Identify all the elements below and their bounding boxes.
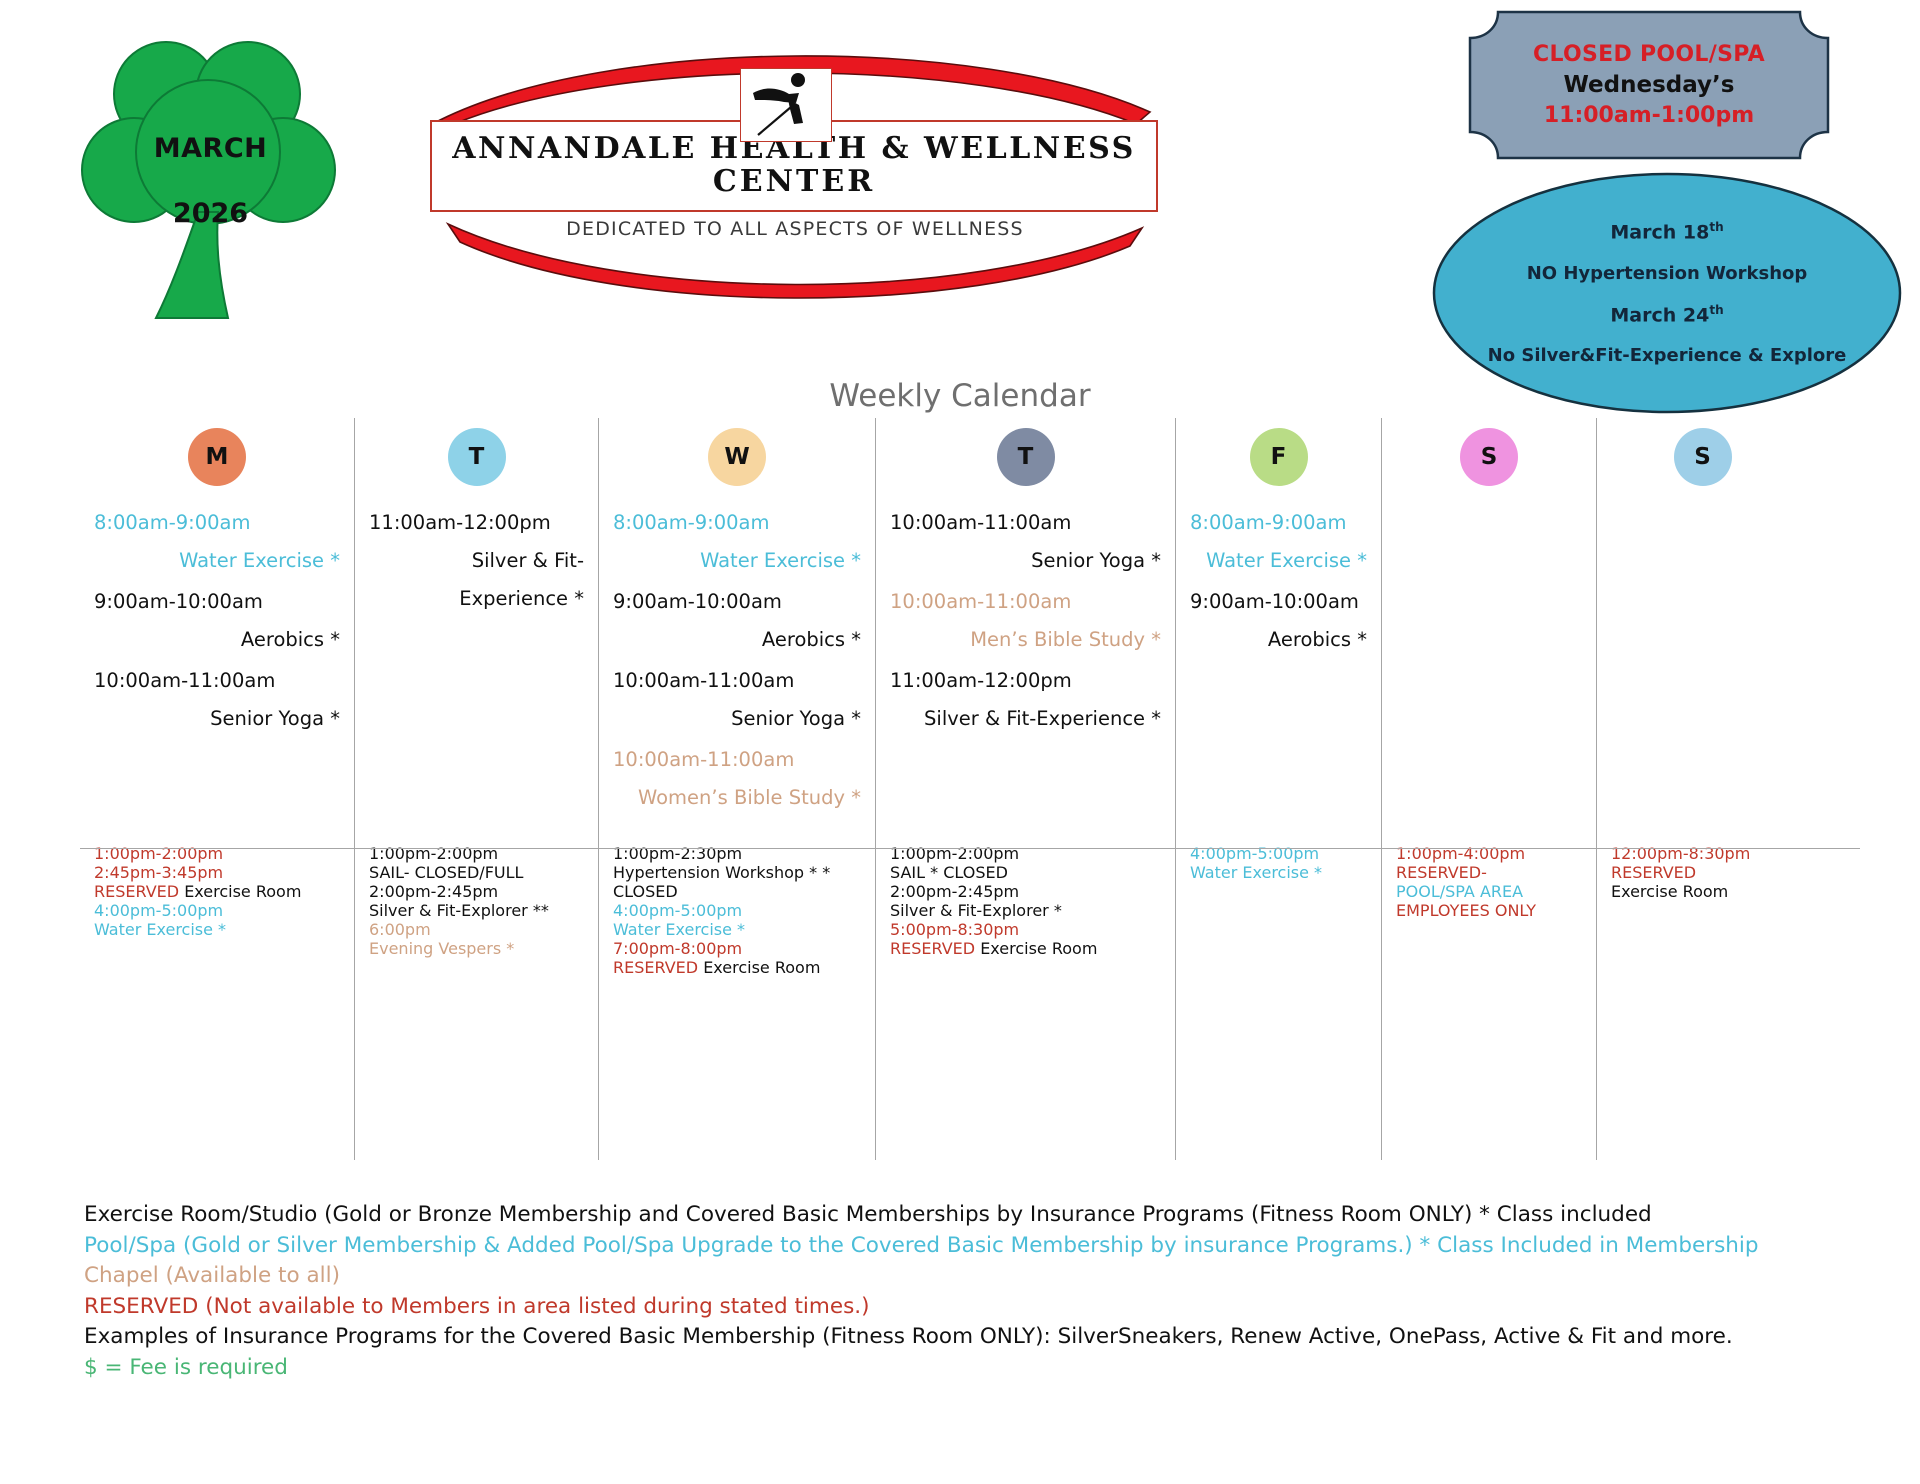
afternoon-line: 4:00pm-5:00pm bbox=[613, 901, 861, 920]
event-time: 10:00am-11:00am bbox=[94, 662, 340, 700]
day-header-row: MTWTFSS bbox=[80, 418, 1860, 496]
event-name: Aerobics * bbox=[1190, 621, 1367, 659]
reserved-location: Exercise Room bbox=[698, 958, 820, 977]
afternoon-column-4: 4:00pm-5:00pmWater Exercise * bbox=[1175, 830, 1381, 1160]
afternoon-line: 1:00pm-2:30pm bbox=[613, 844, 861, 863]
afternoon-line: 7:00pm-8:00pm bbox=[613, 939, 861, 958]
event-time: 10:00am-11:00am bbox=[613, 662, 861, 700]
event-name: Women’s Bible Study * bbox=[613, 779, 861, 817]
legend-line-5: $ = Fee is required bbox=[84, 1353, 1884, 1384]
event-time: 10:00am-11:00am bbox=[613, 741, 861, 779]
afternoon-line: 6:00pm bbox=[369, 920, 584, 939]
day-header-0: M bbox=[80, 418, 354, 496]
afternoon-line: Water Exercise * bbox=[1190, 863, 1367, 882]
afternoon-line: RESERVED Exercise Room bbox=[613, 958, 861, 977]
legend-line-3: RESERVED (Not available to Members in ar… bbox=[84, 1292, 1884, 1323]
shamrock-icon bbox=[78, 22, 343, 322]
event-name: Water Exercise * bbox=[94, 542, 340, 580]
event-time: 11:00am-12:00pm bbox=[369, 504, 584, 542]
afternoon-line: Evening Vespers * bbox=[369, 939, 584, 958]
calendar-event: 10:00am-11:00amSenior Yoga * bbox=[94, 662, 340, 738]
ellipse-note2: No Silver&Fit-Experience & Explore bbox=[1488, 345, 1847, 366]
event-time: 8:00am-9:00am bbox=[613, 504, 861, 542]
event-name: Senior Yoga * bbox=[94, 700, 340, 738]
afternoon-column-6: 12:00pm-8:30pmRESERVEDExercise Room bbox=[1596, 830, 1808, 1160]
event-name: Water Exercise * bbox=[613, 542, 861, 580]
event-time: 8:00am-9:00am bbox=[94, 504, 340, 542]
ellipse-date2: March 24th bbox=[1610, 303, 1723, 326]
reserved-location: Exercise Room bbox=[179, 882, 301, 901]
event-time: 8:00am-9:00am bbox=[1190, 504, 1367, 542]
day-circle-f-4: F bbox=[1250, 428, 1308, 486]
calendar-event: 11:00am-12:00pmSilver & Fit-Experience * bbox=[890, 662, 1161, 738]
day-circle-t-1: T bbox=[448, 428, 506, 486]
event-name: Senior Yoga * bbox=[613, 700, 861, 738]
afternoon-line: RESERVED Exercise Room bbox=[890, 939, 1161, 958]
page-header: MARCH 2026 ANNANDALE HEALTH & WELLNESS C… bbox=[0, 0, 1920, 360]
legend-line-0: Exercise Room/Studio (Gold or Bronze Mem… bbox=[84, 1200, 1884, 1231]
weekly-calendar: MTWTFSS 8:00am-9:00amWater Exercise *9:0… bbox=[80, 418, 1860, 1160]
logo-block: ANNANDALE HEALTH & WELLNESS CENTER DEDIC… bbox=[430, 20, 1160, 310]
event-time: 9:00am-10:00am bbox=[94, 583, 340, 621]
center-title-line2: CENTER bbox=[713, 165, 875, 200]
afternoon-line: CLOSED bbox=[613, 882, 861, 901]
calendar-event: 11:00am-12:00pmSilver & Fit-Experience * bbox=[369, 504, 584, 618]
afternoon-line: RESERVED Exercise Room bbox=[94, 882, 340, 901]
afternoon-column-1: 1:00pm-2:00pmSAIL- CLOSED/FULL2:00pm-2:4… bbox=[354, 830, 598, 1160]
afternoon-column-5: 1:00pm-4:00pmRESERVED-POOL/SPA AREAEMPLO… bbox=[1381, 830, 1596, 1160]
morning-column-0: 8:00am-9:00amWater Exercise *9:00am-10:0… bbox=[80, 496, 354, 830]
afternoon-line: SAIL- CLOSED/FULL bbox=[369, 863, 584, 882]
legend-line-1: Pool/Spa (Gold or Silver Membership & Ad… bbox=[84, 1231, 1884, 1262]
event-time: 10:00am-11:00am bbox=[890, 504, 1161, 542]
day-header-3: T bbox=[875, 418, 1175, 496]
afternoon-line: 4:00pm-5:00pm bbox=[1190, 844, 1367, 863]
event-name: Water Exercise * bbox=[1190, 542, 1367, 580]
ellipse-note1: NO Hypertension Workshop bbox=[1527, 263, 1808, 284]
day-header-2: W bbox=[598, 418, 875, 496]
event-time: 9:00am-10:00am bbox=[1190, 583, 1367, 621]
calendar-event: 10:00am-11:00amSenior Yoga * bbox=[613, 662, 861, 738]
afternoon-line: RESERVED bbox=[1611, 863, 1794, 882]
morning-column-2: 8:00am-9:00amWater Exercise *9:00am-10:0… bbox=[598, 496, 875, 830]
afternoon-line: Water Exercise * bbox=[94, 920, 340, 939]
afternoon-line: 1:00pm-2:00pm bbox=[890, 844, 1161, 863]
day-circle-t-3: T bbox=[997, 428, 1055, 486]
afternoon-line: SAIL * CLOSED bbox=[890, 863, 1161, 882]
calendar-event: 9:00am-10:00amAerobics * bbox=[94, 583, 340, 659]
reserved-tag: RESERVED bbox=[94, 882, 179, 901]
shamrock-graphic: MARCH 2026 bbox=[78, 22, 343, 322]
morning-column-5 bbox=[1381, 496, 1596, 830]
plaque-line1: CLOSED POOL/SPA bbox=[1533, 42, 1765, 67]
afternoon-line: EMPLOYEES ONLY bbox=[1396, 901, 1582, 920]
event-time: 9:00am-10:00am bbox=[613, 583, 861, 621]
plaque-line3: 11:00am-1:00pm bbox=[1544, 103, 1754, 128]
calendar-event: 9:00am-10:00amAerobics * bbox=[1190, 583, 1367, 659]
calendar-event: 8:00am-9:00amWater Exercise * bbox=[94, 504, 340, 580]
afternoon-line: 5:00pm-8:30pm bbox=[890, 920, 1161, 939]
calendar-event: 9:00am-10:00amAerobics * bbox=[613, 583, 861, 659]
calendar-event: 8:00am-9:00amWater Exercise * bbox=[1190, 504, 1367, 580]
morning-column-3: 10:00am-11:00amSenior Yoga *10:00am-11:0… bbox=[875, 496, 1175, 830]
closed-pool-notice: CLOSED POOL/SPA Wednesday’s 11:00am-1:00… bbox=[1468, 10, 1830, 160]
morning-row: 8:00am-9:00amWater Exercise *9:00am-10:0… bbox=[80, 496, 1860, 830]
reserved-location: Exercise Room bbox=[975, 939, 1097, 958]
afternoon-line: 1:00pm-2:00pm bbox=[369, 844, 584, 863]
afternoon-line: RESERVED- bbox=[1396, 863, 1582, 882]
afternoon-line: 4:00pm-5:00pm bbox=[94, 901, 340, 920]
event-time: 11:00am-12:00pm bbox=[890, 662, 1161, 700]
event-name: Aerobics * bbox=[613, 621, 861, 659]
day-circle-m-0: M bbox=[188, 428, 246, 486]
afternoon-line: Silver & Fit-Explorer ** bbox=[369, 901, 584, 920]
afternoon-column-3: 1:00pm-2:00pmSAIL * CLOSED2:00pm-2:45pmS… bbox=[875, 830, 1175, 1160]
afternoon-line: Hypertension Workshop * * bbox=[613, 863, 861, 882]
afternoon-line: Exercise Room bbox=[1611, 882, 1794, 901]
afternoon-line: POOL/SPA AREA bbox=[1396, 882, 1582, 901]
day-circle-w-2: W bbox=[708, 428, 766, 486]
plaque-line2: Wednesday’s bbox=[1564, 72, 1735, 98]
legend-line-2: Chapel (Available to all) bbox=[84, 1261, 1884, 1292]
morning-column-6 bbox=[1596, 496, 1808, 830]
calendar-event: 10:00am-11:00amMen’s Bible Study * bbox=[890, 583, 1161, 659]
afternoon-line: Silver & Fit-Explorer * bbox=[890, 901, 1161, 920]
day-circle-s-5: S bbox=[1460, 428, 1518, 486]
day-header-6: S bbox=[1596, 418, 1808, 496]
afternoon-column-2: 1:00pm-2:30pmHypertension Workshop * *CL… bbox=[598, 830, 875, 1160]
reserved-tag: RESERVED bbox=[890, 939, 975, 958]
legend-block: Exercise Room/Studio (Gold or Bronze Mem… bbox=[84, 1200, 1884, 1383]
event-name: Aerobics * bbox=[94, 621, 340, 659]
legend-line-4: Examples of Insurance Programs for the C… bbox=[84, 1322, 1884, 1353]
afternoon-line: 2:45pm-3:45pm bbox=[94, 863, 340, 882]
afternoon-column-0: 1:00pm-2:00pm2:45pm-3:45pmRESERVED Exerc… bbox=[80, 830, 354, 1160]
day-header-1: T bbox=[354, 418, 598, 496]
calendar-mid-divider bbox=[80, 848, 1860, 849]
ellipse-date1: March 18th bbox=[1610, 220, 1723, 243]
logo-tagline: DEDICATED TO ALL ASPECTS OF WELLNESS bbox=[430, 218, 1160, 240]
afternoon-line: Water Exercise * bbox=[613, 920, 861, 939]
logo-runner-icon bbox=[740, 68, 832, 142]
afternoon-row: 1:00pm-2:00pm2:45pm-3:45pmRESERVED Exerc… bbox=[80, 830, 1860, 1160]
event-name: Silver & Fit-Experience * bbox=[369, 542, 584, 618]
afternoon-line: 1:00pm-2:00pm bbox=[94, 844, 340, 863]
weekly-calendar-heading: Weekly Calendar bbox=[0, 378, 1920, 414]
calendar-event: 10:00am-11:00amSenior Yoga * bbox=[890, 504, 1161, 580]
event-name: Men’s Bible Study * bbox=[890, 621, 1161, 659]
afternoon-line: 1:00pm-4:00pm bbox=[1396, 844, 1582, 863]
afternoon-line: 12:00pm-8:30pm bbox=[1611, 844, 1794, 863]
reserved-tag: RESERVED bbox=[613, 958, 698, 977]
calendar-event: 10:00am-11:00amWomen’s Bible Study * bbox=[613, 741, 861, 817]
afternoon-line: 2:00pm-2:45pm bbox=[890, 882, 1161, 901]
day-header-5: S bbox=[1381, 418, 1596, 496]
calendar-event: 8:00am-9:00amWater Exercise * bbox=[613, 504, 861, 580]
morning-column-1: 11:00am-12:00pmSilver & Fit-Experience * bbox=[354, 496, 598, 830]
event-name: Silver & Fit-Experience * bbox=[890, 700, 1161, 738]
event-name: Senior Yoga * bbox=[890, 542, 1161, 580]
morning-column-4: 8:00am-9:00amWater Exercise *9:00am-10:0… bbox=[1175, 496, 1381, 830]
event-time: 10:00am-11:00am bbox=[890, 583, 1161, 621]
day-header-4: F bbox=[1175, 418, 1381, 496]
afternoon-line: 2:00pm-2:45pm bbox=[369, 882, 584, 901]
day-circle-s-6: S bbox=[1674, 428, 1732, 486]
